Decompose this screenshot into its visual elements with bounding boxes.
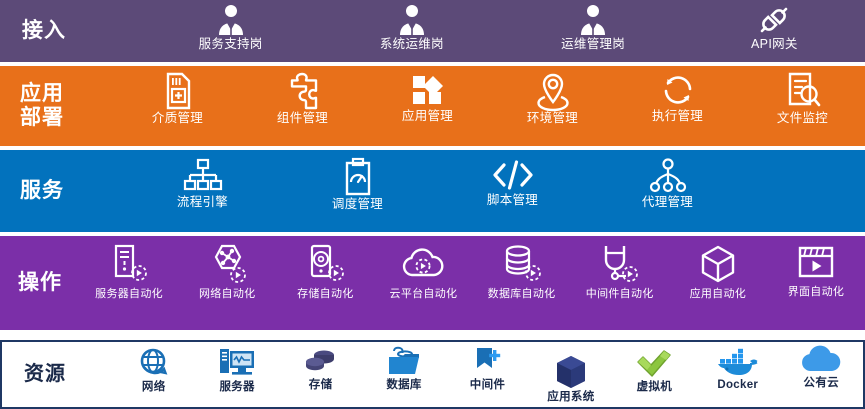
person-support-icon (214, 4, 248, 36)
item-docker[interactable]: Docker (696, 346, 779, 392)
band-ops-items: 服务器自动化 (80, 236, 865, 330)
item-label: Docker (717, 379, 758, 392)
puzzle-piece-icon (285, 72, 321, 110)
item-label: 虚拟机 (637, 381, 672, 394)
clipboard-gauge-icon (342, 158, 374, 196)
item-label: 云平台自动化 (390, 288, 458, 300)
item-process-engine[interactable]: 流程引擎 (125, 158, 280, 210)
band-deploy-category: 应用 部署 (0, 82, 115, 129)
hierarchy-tree-icon (183, 158, 223, 194)
item-execution-management[interactable]: 执行管理 (615, 72, 740, 124)
agent-nodes-icon (648, 158, 688, 194)
navy-cube-icon (554, 354, 588, 390)
item-label: 执行管理 (652, 110, 703, 124)
item-label: 代理管理 (642, 196, 693, 210)
item-storage[interactable]: 存储 (279, 346, 362, 392)
band-resource-category: 资源 (2, 363, 112, 385)
database-folder-icon (386, 346, 422, 378)
item-label: 应用系统 (547, 391, 594, 404)
plug-connector-icon (756, 4, 792, 36)
person-sysops-icon (395, 4, 429, 36)
band-access-category: 接入 (0, 19, 140, 43)
item-network-automation[interactable]: 网络自动化 (178, 244, 276, 300)
window-play-icon (796, 244, 836, 284)
item-component-management[interactable]: 组件管理 (240, 72, 365, 126)
item-label: 组件管理 (277, 112, 328, 126)
item-ops-management-post[interactable]: 运维管理岗 (503, 4, 684, 52)
item-label: 流程引擎 (177, 196, 228, 210)
item-label: 公有云 (804, 377, 839, 390)
item-label: 中间件自动化 (586, 288, 654, 300)
item-virtual-machine[interactable]: 虚拟机 (613, 346, 696, 394)
item-label: 服务器 (219, 381, 254, 394)
item-api-gateway[interactable]: API网关 (684, 4, 865, 52)
band-service: 服务 流程引擎 (0, 150, 865, 232)
cube-icon (698, 244, 738, 286)
item-label: 中间件 (470, 379, 505, 392)
item-label: 脚本管理 (487, 194, 538, 208)
item-network[interactable]: 网络 (112, 346, 195, 394)
item-public-cloud[interactable]: 公有云 (780, 346, 863, 390)
item-label: 数据库 (386, 379, 421, 392)
item-label: 应用自动化 (690, 288, 747, 300)
middleware-play-icon (598, 244, 642, 286)
item-label: 数据库自动化 (488, 288, 556, 300)
item-service-support-post[interactable]: 服务支持岗 (140, 4, 321, 52)
item-media-management[interactable]: 介质管理 (115, 72, 240, 126)
band-service-items: 流程引擎 调度管理 (125, 150, 865, 232)
document-search-icon (785, 72, 821, 110)
band-access-items: 服务支持岗 系统运维岗 (140, 0, 865, 62)
disk-stack-icon (302, 346, 340, 378)
cloud-play-icon (400, 244, 446, 286)
item-database-automation[interactable]: 数据库自动化 (473, 244, 571, 300)
sync-arrows-icon (659, 72, 697, 108)
globe-icon (137, 346, 171, 380)
item-middleware-automation[interactable]: 中间件自动化 (571, 244, 669, 300)
item-server-automation[interactable]: 服务器自动化 (80, 244, 178, 300)
band-deploy-items: 介质管理 组件管理 (115, 66, 865, 146)
vmware-check-icon (634, 346, 674, 380)
item-server[interactable]: 服务器 (195, 346, 278, 394)
server-monitor-icon (218, 346, 256, 380)
item-cloud-platform-automation[interactable]: 云平台自动化 (374, 244, 472, 300)
band-ops: 操作 服务器自动化 (0, 236, 865, 330)
item-label: 服务器自动化 (95, 288, 163, 300)
network-hex-play-icon (205, 244, 249, 286)
location-pin-icon (534, 72, 572, 110)
item-label: 服务支持岗 (199, 38, 263, 52)
item-label: 界面自动化 (788, 286, 845, 298)
item-database[interactable]: 数据库 (362, 346, 445, 392)
public-cloud-icon (799, 346, 843, 376)
person-manager-icon (576, 4, 610, 36)
server-tower-play-icon (108, 244, 150, 286)
band-resource: 资源 网络 (0, 340, 865, 409)
band-resource-items: 网络 (112, 342, 863, 407)
item-label: 文件监控 (777, 112, 828, 126)
band-access: 接入 服务支持岗 (0, 0, 865, 62)
item-label: 调度管理 (332, 198, 383, 212)
item-environment-management[interactable]: 环境管理 (490, 72, 615, 126)
docker-whale-icon (714, 346, 762, 378)
item-label: 环境管理 (527, 112, 578, 126)
item-label: API网关 (751, 38, 798, 52)
item-label: 介质管理 (152, 112, 203, 126)
item-label: 存储自动化 (297, 288, 354, 300)
band-service-category: 服务 (0, 179, 125, 203)
item-application-system[interactable]: 应用系统 (529, 346, 612, 404)
item-label: 系统运维岗 (380, 38, 444, 52)
item-schedule-management[interactable]: 调度管理 (280, 158, 435, 212)
item-label: 存储 (309, 379, 333, 392)
item-label: 网络 (142, 381, 166, 394)
item-agent-management[interactable]: 代理管理 (590, 158, 745, 210)
item-file-monitoring[interactable]: 文件监控 (740, 72, 865, 126)
item-label: 网络自动化 (199, 288, 256, 300)
four-squares-icon (410, 72, 446, 108)
storage-disk-play-icon (304, 244, 346, 286)
item-system-ops-post[interactable]: 系统运维岗 (321, 4, 502, 52)
database-play-icon (500, 244, 544, 286)
band-deploy: 应用 部署 介质管理 (0, 66, 865, 146)
item-label: 应用管理 (402, 110, 453, 124)
item-application-management[interactable]: 应用管理 (365, 72, 490, 124)
item-storage-automation[interactable]: 存储自动化 (276, 244, 374, 300)
architecture-diagram: 接入 服务支持岗 (0, 0, 865, 409)
code-brackets-icon (491, 158, 535, 192)
band-ops-category: 操作 (0, 271, 80, 295)
flag-plus-icon (471, 346, 503, 378)
item-application-automation[interactable]: 应用自动化 (669, 244, 767, 300)
item-middleware[interactable]: 中间件 (446, 346, 529, 392)
item-script-management[interactable]: 脚本管理 (435, 158, 590, 208)
item-ui-automation[interactable]: 界面自动化 (767, 244, 865, 298)
sdcard-plus-icon (162, 72, 194, 110)
item-label: 运维管理岗 (561, 38, 625, 52)
